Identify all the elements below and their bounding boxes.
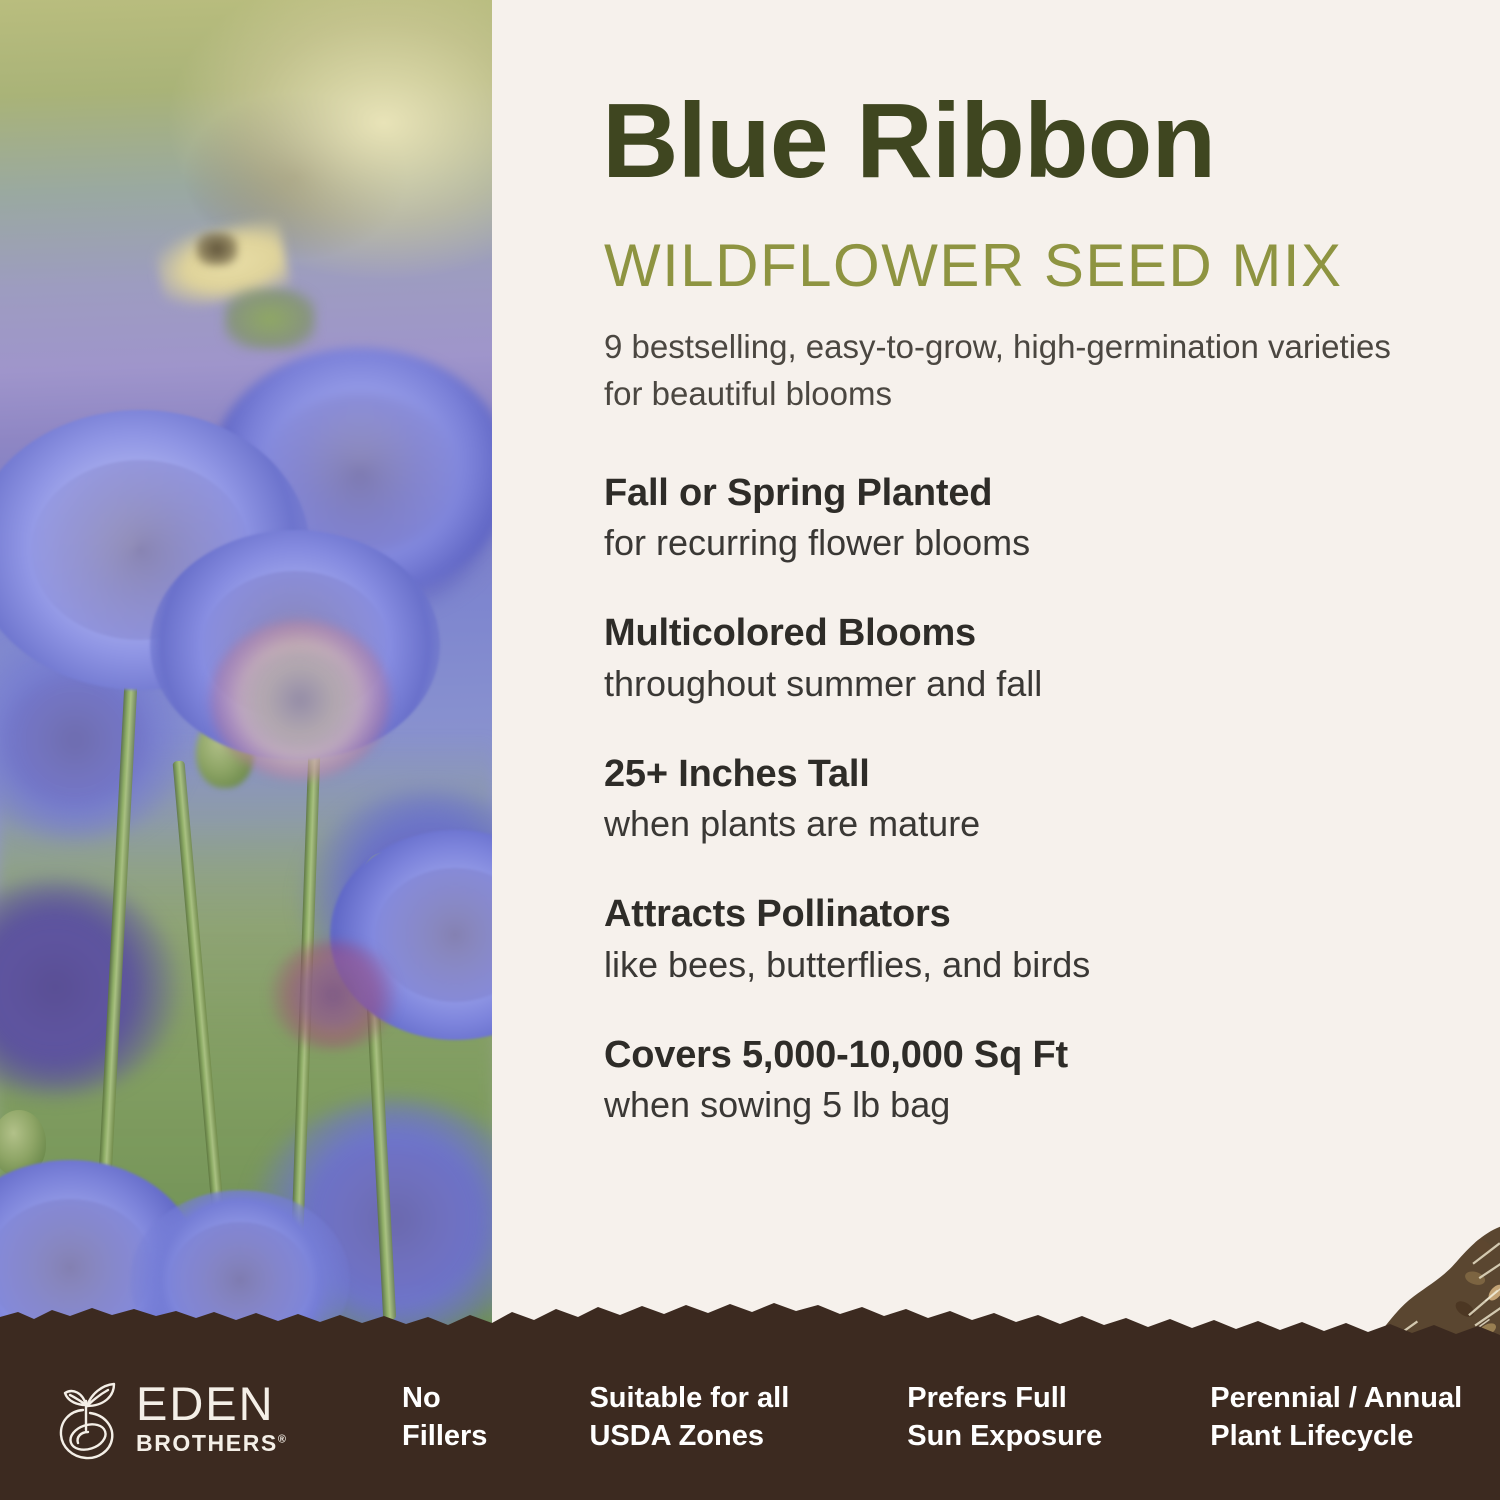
- status-badge: Suitable for all USDA Zones: [589, 1380, 789, 1454]
- feature-subtitle: like bees, butterflies, and birds: [604, 942, 1444, 988]
- badge-line-2: Sun Exposure: [907, 1418, 1102, 1455]
- feature-subtitle: for recurring flower blooms: [604, 520, 1444, 566]
- cornflower-photo: [0, 0, 492, 1360]
- feature-title: Fall or Spring Planted: [604, 470, 1444, 516]
- footer-bar: EDEN BROTHERS® No Fillers Suitable for a…: [0, 1335, 1500, 1500]
- badge-line-1: Suitable for all: [589, 1382, 789, 1414]
- brand-wordmark: EDEN BROTHERS®: [136, 1380, 288, 1455]
- cornflower-pink-accent: [268, 940, 398, 1050]
- bee-head-blur: [196, 232, 238, 266]
- sprout-seed-icon: [48, 1375, 122, 1461]
- feature-item: Covers 5,000-10,000 Sq Ft when sowing 5 …: [604, 1032, 1444, 1128]
- badge-line-2: Plant Lifecycle: [1210, 1418, 1462, 1455]
- badge-line-1: Prefers Full: [907, 1382, 1067, 1414]
- badge-line-1: No: [402, 1382, 441, 1414]
- badge-line-2: USDA Zones: [589, 1418, 789, 1455]
- bee-flower-blur: [224, 288, 316, 350]
- feature-title: Attracts Pollinators: [604, 891, 1444, 937]
- feature-list: Fall or Spring Planted for recurring flo…: [604, 470, 1444, 1128]
- feature-item: Multicolored Blooms throughout summer an…: [604, 610, 1444, 706]
- cornflower-bg-4: [0, 880, 180, 1095]
- badge-line-1: Perennial / Annual: [1210, 1382, 1462, 1414]
- content-panel: Blue Ribbon WILDFLOWER SEED MIX 9 bestse…: [492, 0, 1500, 1360]
- product-subtitle: WILDFLOWER SEED MIX: [604, 236, 1343, 296]
- feature-title: Multicolored Blooms: [604, 610, 1444, 656]
- feature-subtitle: when sowing 5 lb bag: [604, 1082, 1444, 1128]
- brand-name: EDEN: [136, 1380, 288, 1427]
- feature-subtitle: when plants are mature: [604, 801, 1444, 847]
- feature-item: 25+ Inches Tall when plants are mature: [604, 751, 1444, 847]
- status-badge: No Fillers: [402, 1380, 487, 1454]
- product-infographic: Blue Ribbon WILDFLOWER SEED MIX 9 bestse…: [0, 0, 1500, 1500]
- eden-brothers-logo[interactable]: EDEN BROTHERS®: [48, 1375, 310, 1461]
- cornflower-fading-1: [210, 620, 390, 780]
- feature-title: 25+ Inches Tall: [604, 751, 1444, 797]
- feature-title: Covers 5,000-10,000 Sq Ft: [604, 1032, 1444, 1078]
- product-description: 9 bestselling, easy-to-grow, high-germin…: [604, 324, 1394, 418]
- feature-item: Attracts Pollinators like bees, butterfl…: [604, 891, 1444, 987]
- footer-content: EDEN BROTHERS® No Fillers Suitable for a…: [0, 1335, 1500, 1500]
- status-badge: Perennial / Annual Plant Lifecycle: [1210, 1380, 1462, 1454]
- feature-item: Fall or Spring Planted for recurring flo…: [604, 470, 1444, 566]
- photo-flora-layer: [0, 0, 492, 1360]
- registered-trademark-icon: ®: [278, 1433, 288, 1445]
- brand-subname: BROTHERS®: [136, 1432, 288, 1455]
- footer-badge-list: No Fillers Suitable for all USDA Zones P…: [310, 1380, 1462, 1454]
- page-title: Blue Ribbon: [602, 88, 1215, 194]
- status-badge: Prefers Full Sun Exposure: [907, 1380, 1102, 1454]
- feature-subtitle: throughout summer and fall: [604, 661, 1444, 707]
- badge-line-2: Fillers: [402, 1418, 487, 1455]
